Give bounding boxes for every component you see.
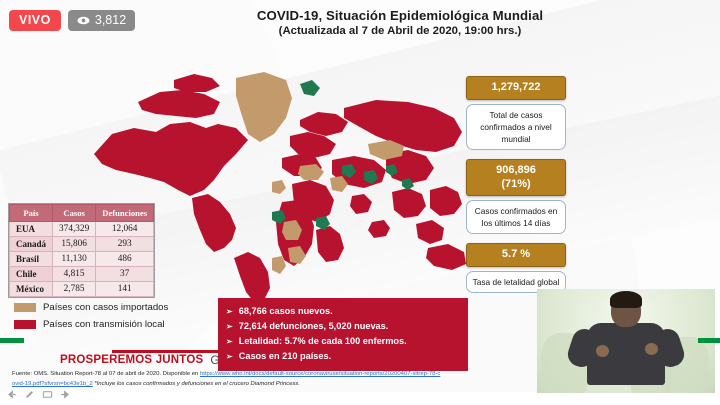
bullet-arrow-icon: ➢	[226, 321, 233, 334]
column-header-deaths: Defunciones	[96, 205, 154, 222]
table-row: México 2,785 141	[10, 282, 154, 297]
legend-label-imported: Países con casos importados	[43, 302, 168, 313]
country-data-table: País Casos Defunciones EUA 374,329 12,06…	[8, 203, 155, 298]
stat-label-recent-cases: Casos confirmados en los últimos 14 días	[466, 200, 566, 234]
brand-slogan: PROSPEREMOS JUNTOS	[60, 354, 203, 366]
statistics-panel: 1,279,722 Total de casos confirmados a n…	[466, 76, 566, 302]
slide-title-block: COVID-19, Situación Epidemiológica Mundi…	[205, 8, 595, 37]
page-title: COVID-19, Situación Epidemiológica Mundi…	[205, 8, 595, 23]
cell-cases: 2,785	[53, 282, 96, 297]
cell-cases: 4,815	[53, 267, 96, 282]
stat-value-recent-cases: 906,896 (71%)	[466, 159, 566, 197]
presentation-toolbar	[6, 389, 71, 400]
stat-value-total-cases: 1,279,722	[466, 76, 566, 100]
interpreter-hand-right	[645, 343, 658, 355]
stat-value-recent-percent: (71%)	[469, 178, 563, 192]
table-row: Brasil 11,130 486	[10, 252, 154, 267]
back-arrow-icon[interactable]	[6, 389, 17, 400]
callout-bullet: ➢ 68,766 casos nuevos.	[226, 304, 458, 319]
cell-deaths: 486	[96, 252, 154, 267]
column-header-cases: Casos	[53, 205, 96, 222]
cell-cases: 15,806	[53, 237, 96, 252]
viewer-count-pill: 3,812	[68, 10, 135, 31]
footer-strip	[0, 392, 720, 405]
cell-deaths: 293	[96, 237, 154, 252]
map-legend: Países con casos importados Países con t…	[14, 302, 168, 336]
page-subtitle: (Actualizada al 7 de Abril de 2020, 19:0…	[205, 25, 595, 37]
sign-language-interpreter-video	[537, 289, 715, 393]
callout-bullet-text: 68,766 casos nuevos.	[239, 304, 333, 319]
cell-cases: 374,329	[53, 222, 96, 237]
stat-label-total-cases: Total de casos confirmados a nivel mundi…	[466, 104, 566, 150]
cell-deaths: 141	[96, 282, 154, 297]
column-header-country: País	[10, 205, 53, 222]
forward-arrow-icon[interactable]	[60, 389, 71, 400]
summary-callout: ➢ 68,766 casos nuevos. ➢ 72,614 defuncio…	[218, 298, 468, 371]
green-accent-bar-right	[698, 338, 720, 343]
source-footnote: Fuente: OMS. Situation Report-78 al 07 d…	[12, 370, 442, 389]
bullet-arrow-icon: ➢	[226, 336, 233, 349]
cell-country: EUA	[10, 222, 53, 237]
legend-label-local: Países con transmisión local	[43, 319, 165, 330]
callout-bullet: ➢ Letalidad: 5.7% de cada 100 enfermos.	[226, 334, 458, 349]
presentation-slide: VIVO 3,812 COVID-19, Situación Epidemiol…	[0, 0, 720, 405]
screen-icon[interactable]	[42, 389, 53, 400]
table-row: Canadá 15,806 293	[10, 237, 154, 252]
cell-cases: 11,130	[53, 252, 96, 267]
interpreter-figure	[576, 293, 676, 393]
legend-item-imported: Países con casos importados	[14, 302, 168, 313]
table-row: EUA 374,329 12,064	[10, 222, 154, 237]
legend-swatch-imported-icon	[14, 303, 36, 312]
legend-item-local: Países con transmisión local	[14, 319, 168, 330]
pen-icon[interactable]	[24, 389, 35, 400]
callout-bullet-text: 72,614 defunciones, 5,020 nuevas.	[239, 319, 389, 334]
live-status-group: VIVO 3,812	[9, 10, 135, 31]
cell-country: Chile	[10, 267, 53, 282]
viewer-count-value: 3,812	[95, 14, 126, 27]
stat-value-fatality-rate: 5.7 %	[466, 243, 566, 267]
stat-value-recent-number: 906,896	[469, 164, 563, 178]
bullet-arrow-icon: ➢	[226, 306, 233, 319]
source-note: *Incluye los casos confirmados y defunci…	[94, 381, 300, 387]
callout-bullet: ➢ Casos en 210 países.	[226, 349, 458, 364]
cell-deaths: 12,064	[96, 222, 154, 237]
eye-icon	[77, 16, 90, 25]
callout-bullet: ➢ 72,614 defunciones, 5,020 nuevas.	[226, 319, 458, 334]
green-accent-bar-left	[0, 338, 24, 343]
bullet-arrow-icon: ➢	[226, 351, 233, 364]
cell-country: Canadá	[10, 237, 53, 252]
source-prefix: Fuente: OMS. Situation Report-78 al 07 d…	[12, 371, 200, 377]
live-badge: VIVO	[9, 10, 61, 31]
legend-swatch-local-icon	[14, 320, 36, 329]
interpreter-hand-left	[596, 345, 609, 357]
cell-deaths: 37	[96, 267, 154, 282]
table-header-row: País Casos Defunciones	[10, 205, 154, 222]
cell-country: México	[10, 282, 53, 297]
callout-bullet-text: Casos en 210 países.	[239, 349, 331, 364]
interpreter-hair	[610, 291, 642, 308]
callout-bullet-text: Letalidad: 5.7% de cada 100 enfermos.	[239, 334, 407, 349]
table-row: Chile 4,815 37	[10, 267, 154, 282]
cell-country: Brasil	[10, 252, 53, 267]
